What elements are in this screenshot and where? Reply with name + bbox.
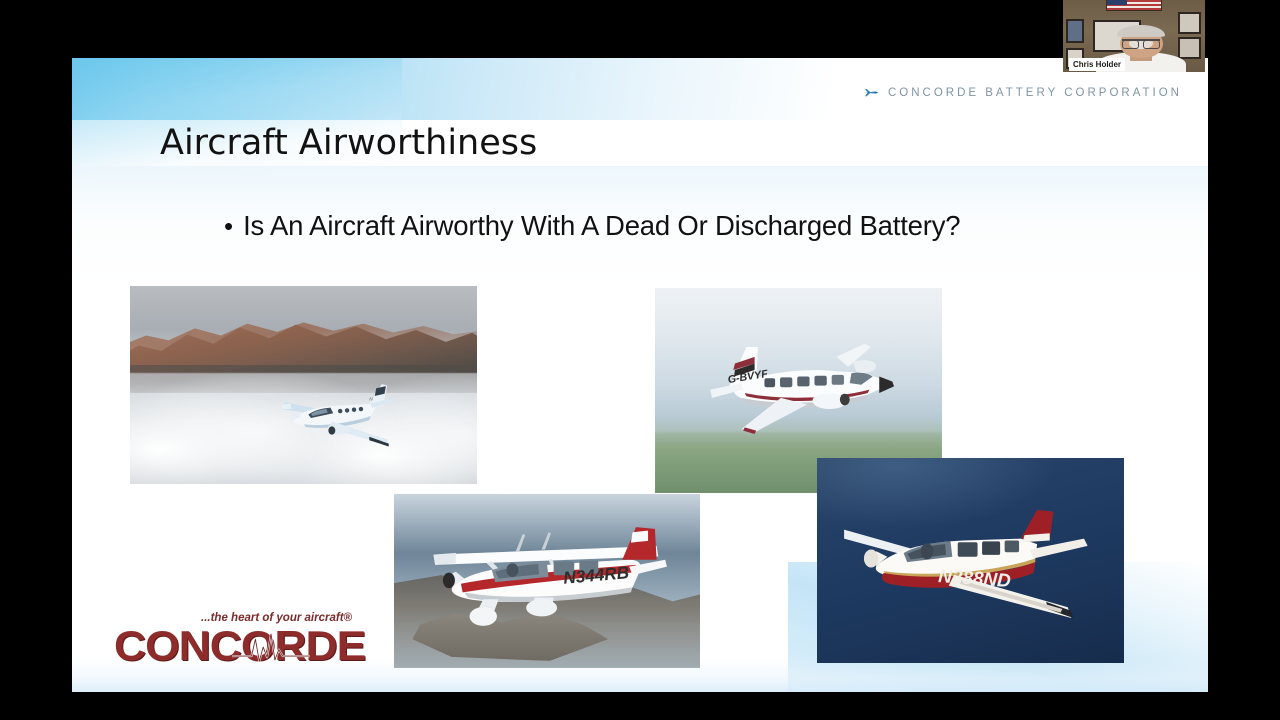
picture-frame-right-lower [1178, 37, 1201, 59]
participant-hair [1117, 25, 1165, 36]
photo1-aircraft-silhouette: N [234, 373, 435, 456]
photo-cessna-twin-over-clouds: N [130, 286, 477, 484]
picture-frame-right-upper [1178, 12, 1201, 34]
video-player-stage: CONCORDE BATTERY CORPORATION Aircraft Ai… [0, 0, 1280, 720]
slide-title: Aircraft Airworthiness [160, 123, 537, 163]
photo4-aircraft: N288ND [823, 499, 1118, 634]
brand-name: CONCORDE BATTERY CORPORATION [888, 87, 1182, 99]
glasses-lens-left [1122, 40, 1139, 49]
concorde-logo: ...the heart of your aircraft® CONCORDE [114, 612, 354, 670]
heartbeat-line-icon [232, 626, 310, 668]
webcam-video-tile[interactable]: Chris Holder [1063, 0, 1205, 72]
picture-frame-left-upper [1066, 19, 1084, 43]
decorative-sky-band-top [72, 58, 832, 120]
photo-piper-cherokee-over-ocean: N288ND [817, 458, 1124, 663]
participant-glasses [1122, 39, 1160, 46]
photo3-aircraft: N344RB [406, 522, 688, 651]
bullet-list-item: • Is An Aircraft Airworthy With A Dead O… [224, 210, 960, 242]
presentation-slide: CONCORDE BATTERY CORPORATION Aircraft Ai… [72, 58, 1208, 692]
bullet-marker-icon: • [224, 213, 233, 239]
svg-text:N: N [369, 397, 373, 403]
photo2-aircraft: G-BVYF [664, 329, 934, 452]
airplane-icon [862, 84, 879, 101]
glasses-lens-right [1143, 40, 1160, 49]
us-flag-decor [1106, 0, 1163, 11]
participant-name-label: Chris Holder [1069, 58, 1125, 71]
brand-header: CONCORDE BATTERY CORPORATION [862, 84, 1182, 101]
bullet-text: Is An Aircraft Airworthy With A Dead Or … [243, 210, 960, 242]
flag-canton [1107, 0, 1128, 5]
photo-cessna-172-over-coast: N344RB [394, 494, 700, 668]
svg-text:N288ND: N288ND [938, 566, 1012, 592]
